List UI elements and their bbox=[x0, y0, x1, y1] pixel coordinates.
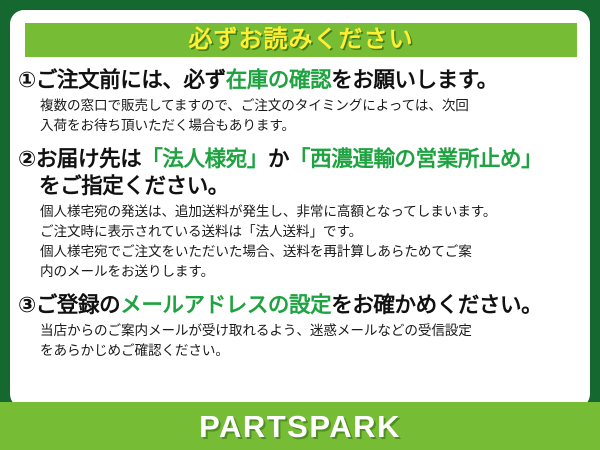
heading-highlight: 「西濃運輸の営業所止め」 bbox=[289, 147, 542, 171]
description-line: 内のメールをお送りします。 bbox=[40, 262, 584, 282]
heading-text: お届け先は bbox=[36, 147, 142, 171]
notice-item-heading: ③ご登録のメールアドレスの設定をお確かめください。 bbox=[18, 292, 584, 319]
description-line: をあらかじめご確認ください。 bbox=[40, 341, 584, 361]
notice-item-description: 当店からのご案内メールが受け取れるよう、迷惑メールなどの受信設定をあらかじめご確… bbox=[18, 321, 584, 361]
notice-inner-panel: 必ずお読みください ①ご注文前には、必ず在庫の確認をお願いします。複数の窓口で販… bbox=[10, 10, 590, 408]
notice-list: ①ご注文前には、必ず在庫の確認をお願いします。複数の窓口で販売してますので、ご注… bbox=[10, 67, 590, 361]
heading-text: ご注文前には、必ず bbox=[36, 68, 226, 92]
notice-card: 必ずお読みください ①ご注文前には、必ず在庫の確認をお願いします。複数の窓口で販… bbox=[0, 0, 600, 450]
notice-item-description: 個人様宅宛の発送は、追加送料が発生し、非常に高額となってしまいます。ご注文時に表… bbox=[18, 202, 584, 282]
notice-item-description: 複数の窓口で販売してますので、ご注文のタイミングによっては、次回入荷をお待ち頂い… bbox=[18, 96, 584, 136]
notice-item-heading: ①ご注文前には、必ず在庫の確認をお願いします。 bbox=[18, 67, 584, 94]
heading-highlight: 在庫の確認 bbox=[226, 68, 332, 92]
heading-text: か bbox=[268, 147, 289, 171]
description-line: 入荷をお待ち頂いただく場合もあります。 bbox=[40, 116, 584, 136]
notice-item: ③ご登録のメールアドレスの設定をお確かめください。当店からのご案内メールが受け取… bbox=[18, 292, 584, 362]
heading-text: ご登録の bbox=[36, 293, 120, 317]
brand-logo: PARTSPARK bbox=[199, 411, 401, 442]
notice-item-heading-continuation: をご指定ください。 bbox=[18, 173, 584, 200]
description-line: 複数の窓口で販売してますので、ご注文のタイミングによっては、次回 bbox=[40, 96, 584, 116]
description-line: 個人様宅宛の発送は、追加送料が発生し、非常に高額となってしまいます。 bbox=[40, 202, 584, 222]
item-number-marker: ② bbox=[18, 147, 36, 171]
page-title: 必ずお読みください bbox=[189, 28, 414, 52]
notice-item: ①ご注文前には、必ず在庫の確認をお願いします。複数の窓口で販売してますので、ご注… bbox=[18, 67, 584, 137]
notice-item-heading: ②お届け先は「法人様宛」か「西濃運輸の営業所止め」 bbox=[18, 146, 584, 173]
heading-highlight: メールアドレスの設定 bbox=[120, 293, 331, 317]
heading-text: をお確かめください。 bbox=[331, 293, 542, 317]
item-number-marker: ① bbox=[18, 68, 36, 92]
heading-text: をお願いします。 bbox=[331, 68, 498, 92]
notice-item: ②お届け先は「法人様宛」か「西濃運輸の営業所止め」をご指定ください。個人様宅宛の… bbox=[18, 146, 584, 283]
item-number-marker: ③ bbox=[18, 293, 36, 317]
description-line: ご注文時に表示されている送料は「法人送料」です。 bbox=[40, 222, 584, 242]
heading-highlight: 「法人様宛」 bbox=[141, 147, 268, 171]
description-line: 当店からのご案内メールが受け取れるよう、迷惑メールなどの受信設定 bbox=[40, 321, 584, 341]
header-banner: 必ずお読みください bbox=[25, 23, 577, 57]
description-line: 個人様宅宛でご注文をいただいた場合、送料を再計算しあらためてご案 bbox=[40, 242, 584, 262]
footer-band: PARTSPARK bbox=[0, 402, 600, 450]
